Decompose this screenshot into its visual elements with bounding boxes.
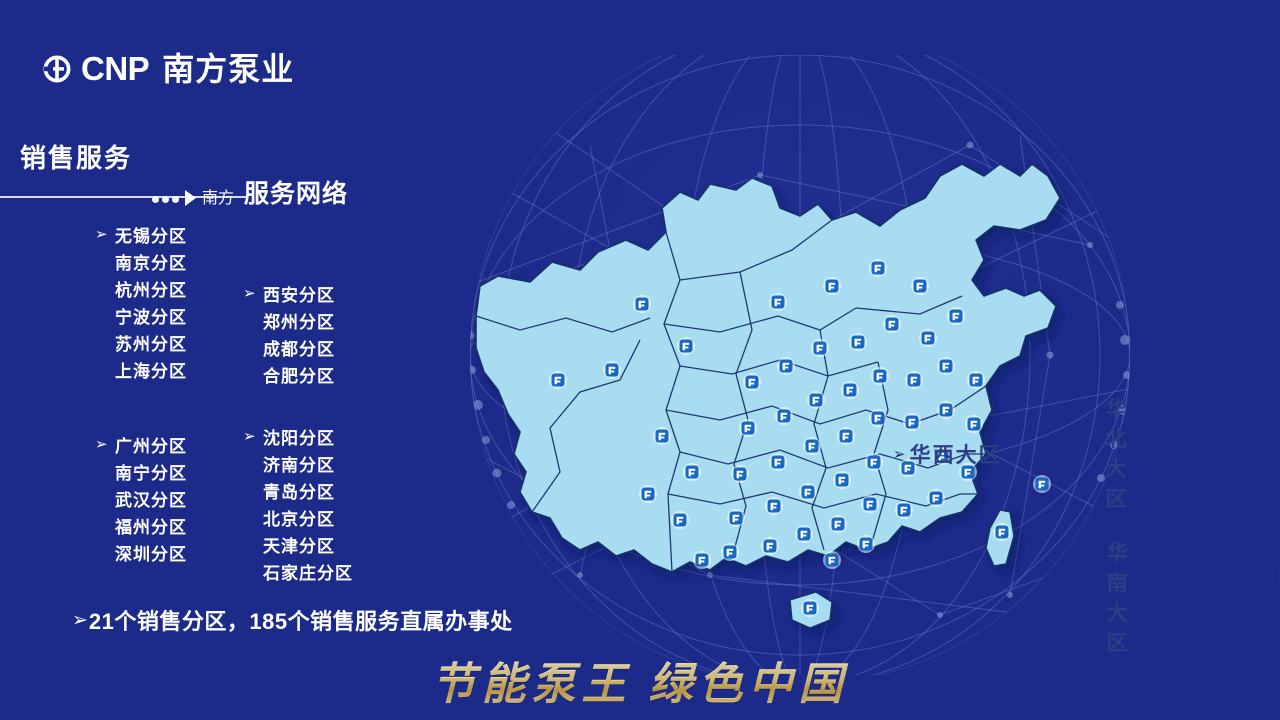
branch-label: 郑州分区	[263, 308, 335, 333]
dots-arrow-icon	[152, 196, 179, 210]
branch-label: 南宁分区	[115, 459, 187, 484]
branch-label: 青岛分区	[263, 478, 335, 503]
region-bullet-icon: ➢	[893, 447, 906, 462]
summary-text: 21个销售分区，185个销售服务直属办事处	[89, 604, 513, 636]
list-item[interactable]: ➢广州分区	[95, 431, 187, 458]
subtitle-row: 南方 服务网络	[152, 174, 348, 210]
list-item[interactable]: 福州分区	[95, 512, 187, 539]
region-bullet-icon: ➢	[1090, 590, 1103, 605]
branch-label: 武汉分区	[115, 486, 187, 511]
logo-chinese-text: 南方泵业	[162, 53, 294, 85]
triangle-icon	[185, 190, 196, 206]
list-item[interactable]: 成都分区	[243, 334, 335, 361]
map-region-label-huanan: ➢ 华南大区	[1090, 537, 1130, 657]
branch-label: 上海分区	[115, 357, 187, 382]
list-item[interactable]: 上海分区	[95, 356, 187, 383]
list-item[interactable]: 北京分区	[243, 504, 353, 531]
branch-label: 西安分区	[263, 281, 335, 306]
list-bullet-icon: ➢	[243, 286, 261, 301]
list-item[interactable]: 郑州分区	[243, 307, 335, 334]
list-item[interactable]: 武汉分区	[95, 485, 187, 512]
branch-label: 北京分区	[263, 505, 335, 530]
list-item[interactable]: ➢沈阳分区	[243, 423, 353, 450]
list-item[interactable]: 杭州分区	[95, 275, 187, 302]
branch-label: 苏州分区	[115, 330, 187, 355]
list-item[interactable]: 天津分区	[243, 531, 353, 558]
list-item[interactable]: 合肥分区	[243, 361, 335, 388]
list-bullet-icon: ➢	[95, 227, 113, 242]
branch-label: 深圳分区	[115, 540, 187, 565]
region-label-text: 华南大区	[1107, 537, 1130, 657]
list-item[interactable]: 宁波分区	[95, 302, 187, 329]
list-item[interactable]: 青岛分区	[243, 477, 353, 504]
list-item[interactable]: 深圳分区	[95, 539, 187, 566]
map-region-label-huaxi: ➢ 华西大区	[893, 439, 1002, 469]
logo-latin-text: CNP	[81, 52, 149, 85]
subtitle-small: 南方	[202, 184, 234, 210]
china-map: ➢ 华西大区 ➢ 华北大区 ➢ 华南大区 华东大区	[380, 80, 1100, 640]
branch-column-west: ➢西安分区 郑州分区 成都分区 合肥分区	[243, 280, 335, 388]
branch-label: 南京分区	[115, 249, 187, 274]
cnp-logo-mark-icon	[42, 54, 72, 84]
branch-label: 广州分区	[115, 432, 187, 457]
subtitle-large: 服务网络	[244, 174, 348, 210]
list-item[interactable]: ➢无锡分区	[95, 221, 187, 248]
branch-label: 石家庄分区	[263, 559, 353, 584]
slide-canvas: ➢ 华西大区 ➢ 华北大区 ➢ 华南大区 华东大区 CNP 南方泵业 销售服务	[0, 0, 1280, 720]
list-item[interactable]: 石家庄分区	[243, 558, 353, 585]
list-item[interactable]: 济南分区	[243, 450, 353, 477]
brand-logo: CNP 南方泵业	[42, 52, 294, 85]
region-label-text: 华西大区	[910, 439, 1002, 469]
branch-label: 无锡分区	[115, 222, 187, 247]
page-title: 销售服务	[20, 138, 132, 175]
summary-line: ➢ 21个销售分区，185个销售服务直属办事处	[72, 604, 513, 636]
branch-column-north: ➢沈阳分区 济南分区 青岛分区 北京分区 天津分区 石家庄分区	[243, 423, 353, 585]
slogan-banner: 节能泵王 绿色中国	[0, 648, 1280, 712]
branch-label: 天津分区	[263, 532, 335, 557]
slogan-text: 节能泵王 绿色中国	[432, 660, 849, 709]
map-region-label-huabei: ➢ 华北大区	[1089, 393, 1129, 513]
list-item[interactable]: 南宁分区	[95, 458, 187, 485]
branch-label: 宁波分区	[115, 303, 187, 328]
branch-label: 福州分区	[115, 513, 187, 538]
branch-label: 合肥分区	[263, 362, 335, 387]
summary-bullet-icon: ➢	[72, 609, 88, 632]
list-item[interactable]: 苏州分区	[95, 329, 187, 356]
branch-label: 济南分区	[263, 451, 335, 476]
list-bullet-icon: ➢	[243, 429, 261, 444]
branch-column-east: ➢无锡分区 南京分区 杭州分区 宁波分区 苏州分区 上海分区	[95, 221, 187, 383]
list-bullet-icon: ➢	[95, 437, 113, 452]
region-label-text: 华北大区	[1106, 393, 1129, 513]
branch-label: 杭州分区	[115, 276, 187, 301]
list-item[interactable]: ➢西安分区	[243, 280, 335, 307]
branch-label: 成都分区	[263, 335, 335, 360]
list-item[interactable]: 南京分区	[95, 248, 187, 275]
region-bullet-icon: ➢	[1089, 446, 1102, 461]
branch-column-south: ➢广州分区 南宁分区 武汉分区 福州分区 深圳分区	[95, 431, 187, 566]
branch-label: 沈阳分区	[263, 424, 335, 449]
